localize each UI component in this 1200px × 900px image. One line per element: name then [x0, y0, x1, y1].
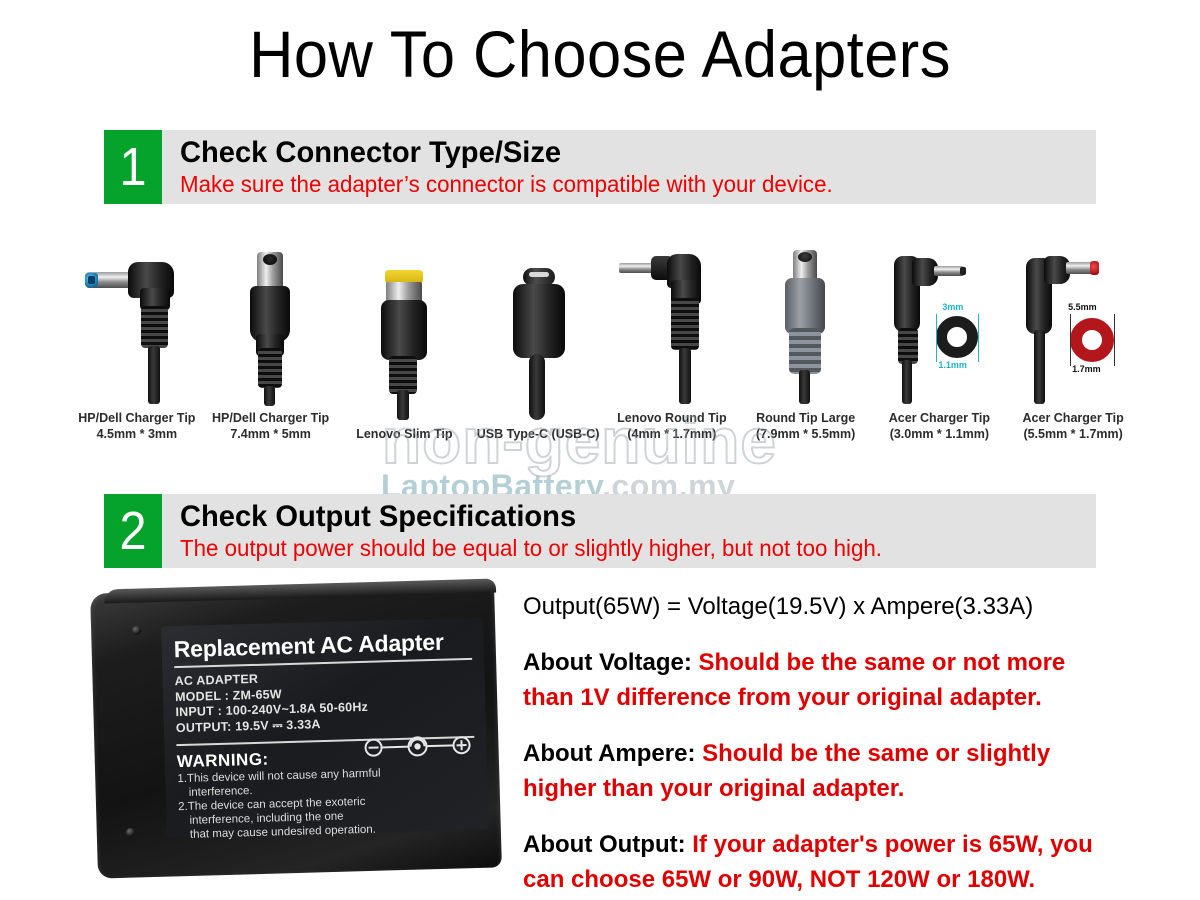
step-2-subtitle: The output power should be equal to or s… — [180, 534, 882, 562]
connector-item-acer-5p5mm: 5.5mm 1.7mm Acer Charger Tip (5.5mm * 1.… — [1006, 232, 1140, 442]
output-formula: Output(65W) = Voltage(19.5V) x Ampere(3.… — [523, 590, 1103, 624]
connector-item-acer-3mm: 3mm 1.1mm Acer Charger Tip (3.0mm * 1.1m… — [873, 232, 1007, 442]
lenovo-slim-tip-connector-icon — [339, 260, 469, 420]
step-2-title: Check Output Specifications — [180, 500, 882, 534]
connector-item-usb-c: USB Type-C (USB-C) — [471, 232, 605, 442]
dimension-inner-label: 1.7mm — [1072, 364, 1101, 374]
about-output-paragraph: About Output: If your adapter's power is… — [523, 827, 1103, 897]
adapter-screw-top-left — [132, 626, 141, 635]
step-2-number: 2 — [119, 504, 146, 558]
step-1-title: Check Connector Type/Size — [180, 136, 833, 170]
connector-label: Acer Charger Tip (3.0mm * 1.1mm) — [889, 410, 990, 442]
connector-item-round-large: Round Tip Large (7.9mm * 5.5mm) — [739, 232, 873, 442]
about-output-lead: About Output: — [523, 831, 686, 858]
acer-5p5mm-connector-icon: 5.5mm 1.7mm — [1008, 244, 1138, 404]
step-1-number: 1 — [119, 140, 146, 194]
adapter-screw-bottom-left — [126, 828, 135, 837]
connector-item-lenovo-slim: Lenovo Slim Tip — [338, 232, 472, 442]
step-1-badge: 1 — [104, 130, 162, 204]
connector-item-hp-dell-4p5: HP/Dell Charger Tip 4.5mm * 3mm — [70, 232, 204, 442]
adapter-label-title: Replacement AC Adapter — [173, 628, 472, 662]
about-voltage-lead: About Voltage: — [523, 649, 692, 676]
connector-label: Acer Charger Tip (5.5mm * 1.7mm) — [1023, 410, 1124, 442]
round-tip-large-connector-icon — [741, 244, 871, 404]
step-2-header: 2 Check Output Specifications The output… — [104, 494, 1096, 568]
step-1-subtitle: Make sure the adapter’s connector is com… — [180, 170, 833, 198]
connector-label: HP/Dell Charger Tip 4.5mm * 3mm — [78, 410, 195, 442]
dimension-outer-label: 3mm — [942, 302, 963, 312]
ac-adapter-photo: Replacement AC Adapter AC ADAPTER MODEL … — [88, 578, 508, 888]
step-2-badge: 2 — [104, 494, 162, 568]
connector-gallery: HP/Dell Charger Tip 4.5mm * 3mm HP/Dell … — [70, 232, 1140, 442]
page-title: How To Choose Adapters — [42, 14, 1158, 94]
connector-label: Lenovo Slim Tip — [356, 426, 452, 442]
hp-dell-barrel-connector-icon — [206, 244, 336, 404]
step-1-header: 1 Check Connector Type/Size Make sure th… — [104, 130, 1096, 204]
connector-label: Round Tip Large (7.9mm * 5.5mm) — [756, 410, 855, 442]
output-spec-text-block: Output(65W) = Voltage(19.5V) x Ampere(3.… — [523, 590, 1103, 897]
connector-item-hp-dell-7p4: HP/Dell Charger Tip 7.4mm * 5mm — [204, 232, 338, 442]
about-voltage-paragraph: About Voltage: Should be the same or not… — [523, 645, 1103, 715]
step-2-texts: Check Output Specifications The output p… — [162, 494, 904, 568]
connector-item-lenovo-round: Lenovo Round Tip (4mm * 1.7mm) — [605, 232, 739, 442]
acer-3mm-connector-icon: 3mm 1.1mm — [874, 244, 1004, 404]
hp-dell-blue-tip-connector-icon — [72, 244, 202, 404]
about-ampere-lead: About Ampere: — [523, 740, 695, 767]
infographic-page: How To Choose Adapters 1 Check Connector… — [0, 0, 1200, 900]
center-positive-polarity-icon — [362, 734, 473, 759]
connector-label: HP/Dell Charger Tip 7.4mm * 5mm — [212, 410, 329, 442]
usb-type-c-connector-icon — [473, 260, 603, 420]
connector-label: USB Type-C (USB-C) — [477, 426, 600, 442]
adapter-spec-label: Replacement AC Adapter AC ADAPTER MODEL … — [161, 618, 489, 839]
dimension-outer-label: 5.5mm — [1068, 302, 1097, 312]
about-ampere-paragraph: About Ampere: Should be the same or slig… — [523, 736, 1103, 806]
connector-label: Lenovo Round Tip (4mm * 1.7mm) — [617, 410, 726, 442]
dimension-inner-label: 1.1mm — [938, 360, 967, 370]
lenovo-round-tip-connector-icon — [607, 244, 737, 404]
step-1-texts: Check Connector Type/Size Make sure the … — [162, 130, 853, 204]
